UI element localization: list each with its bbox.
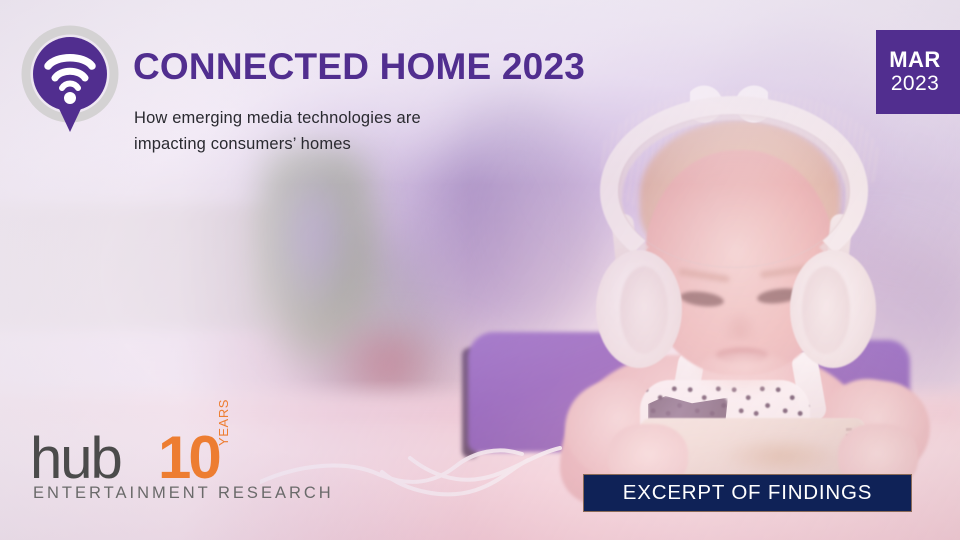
anniversary-unit: YEARS [216, 399, 231, 446]
date-badge-month: MAR [889, 48, 941, 72]
page-subtitle: How emerging media technologies are impa… [134, 106, 421, 157]
excerpt-banner-label: EXCERPT OF FINDINGS [623, 481, 872, 505]
subtitle-line-1: How emerging media technologies are [134, 106, 421, 132]
hub-entertainment-research-logo: hub 10 YEARS ENTERTAINMENT RESEARCH [30, 430, 260, 510]
page-title: CONNECTED HOME 2023 [133, 48, 585, 85]
date-badge-year: 2023 [891, 72, 939, 96]
hub-wordmark: hub [30, 430, 121, 488]
anniversary-number: 10 [158, 428, 219, 488]
excerpt-of-findings-banner: EXCERPT OF FINDINGS [583, 474, 912, 512]
wifi-pin-icon [18, 24, 122, 136]
date-badge: MAR 2023 [876, 30, 960, 114]
subtitle-line-2: impacting consumers’ homes [134, 132, 421, 158]
brand-tagline: ENTERTAINMENT RESEARCH [33, 484, 334, 503]
title-slide: CONNECTED HOME 2023 How emerging media t… [0, 0, 960, 540]
